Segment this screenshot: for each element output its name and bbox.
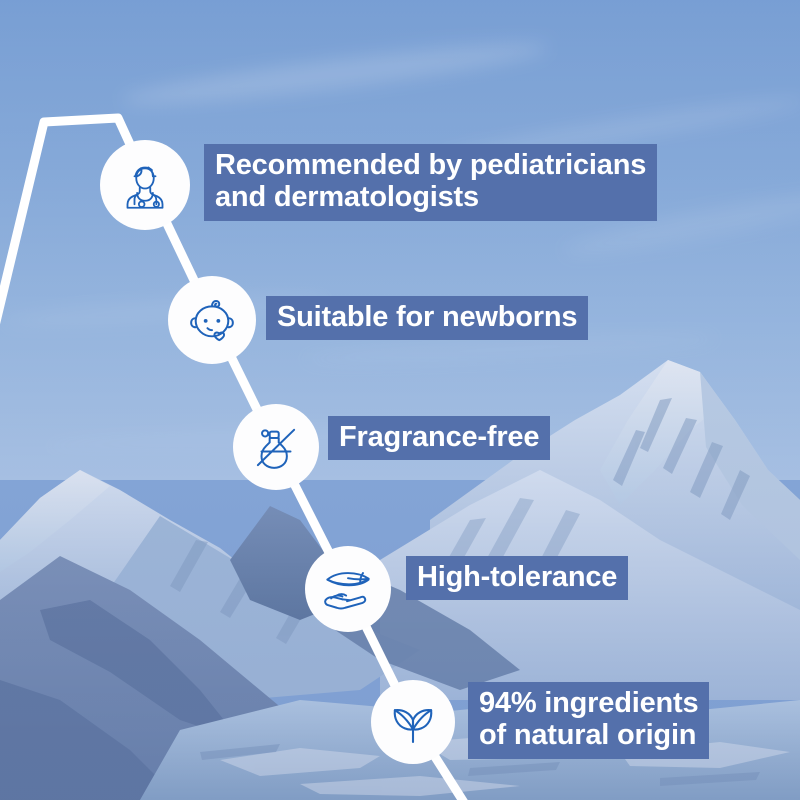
feature-bubble-4[interactable] <box>305 546 391 632</box>
feature-label-2: Suitable for newborns <box>266 296 588 340</box>
leaves-icon <box>384 693 442 751</box>
doctor-icon <box>117 157 173 213</box>
infographic-canvas: Recommended by pediatricians and dermato… <box>0 0 800 800</box>
no-fragrance-icon <box>247 418 305 476</box>
connector-path <box>0 0 800 800</box>
hand-feather-icon <box>318 559 378 619</box>
feature-bubble-2[interactable] <box>168 276 256 364</box>
feature-bubble-1[interactable] <box>100 140 190 230</box>
feature-bubble-3[interactable] <box>233 404 319 490</box>
feature-label-5: 94% ingredients of natural origin <box>468 682 709 759</box>
feature-label-4: High-tolerance <box>406 556 628 600</box>
feature-bubble-5[interactable] <box>371 680 455 764</box>
feature-label-1: Recommended by pediatricians and dermato… <box>204 144 657 221</box>
feature-label-3: Fragrance-free <box>328 416 550 460</box>
baby-face-icon <box>183 291 241 349</box>
